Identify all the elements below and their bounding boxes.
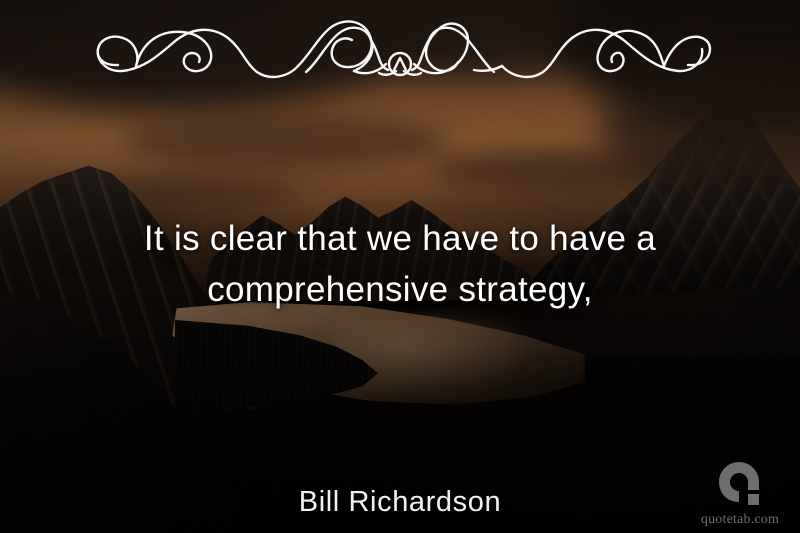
watermark[interactable]: quotetab.com xyxy=(692,460,788,527)
quote-card: It is clear that we have to have a compr… xyxy=(0,0,800,533)
quote-line-1: It is clear that we have to have a xyxy=(144,219,656,258)
watermark-site-text: quotetab.com xyxy=(701,513,779,527)
quotetab-logo-icon xyxy=(715,460,765,512)
quote-block: It is clear that we have to have a compr… xyxy=(0,214,800,316)
author-name: Bill Richardson xyxy=(0,486,800,519)
quote-line-2: comprehensive strategy, xyxy=(207,270,593,309)
quote-text: It is clear that we have to have a compr… xyxy=(90,214,710,316)
decorative-flourish-icon xyxy=(82,14,718,80)
